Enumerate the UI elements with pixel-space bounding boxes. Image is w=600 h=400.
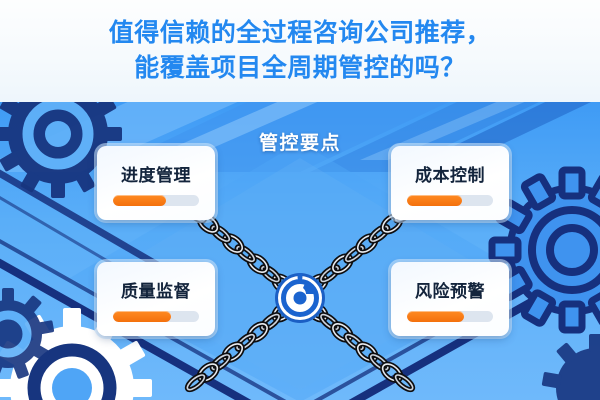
card-label: 风险预警 [415, 277, 485, 302]
progress-track [113, 195, 199, 206]
metric-card-risk[interactable]: 风险预警 [391, 262, 509, 336]
progress-fill [113, 195, 166, 206]
headline-line-1: 值得信赖的全过程咨询公司推荐， [109, 16, 492, 52]
center-hub-badge [275, 273, 325, 323]
progress-fill [407, 311, 464, 322]
metric-card-cost[interactable]: 成本控制 [391, 146, 509, 220]
progress-fill [407, 195, 462, 206]
header-banner: 值得信赖的全过程咨询公司推荐， 能覆盖项目全周期管控的吗？ [0, 0, 600, 102]
card-label: 进度管理 [121, 161, 191, 186]
progress-track [407, 311, 493, 322]
progress-track [113, 311, 199, 322]
progress-track [407, 195, 493, 206]
card-label: 质量监督 [121, 277, 191, 302]
section-heading: 管控要点 [0, 128, 600, 155]
progress-fill [113, 311, 171, 322]
metric-card-quality[interactable]: 质量监督 [97, 262, 215, 336]
headline-line-2: 能覆盖项目全周期管控的吗？ [134, 51, 466, 87]
infographic-poster: 值得信赖的全过程咨询公司推荐， 能覆盖项目全周期管控的吗？ [0, 0, 600, 400]
card-label: 成本控制 [415, 161, 485, 186]
metric-card-schedule[interactable]: 进度管理 [97, 146, 215, 220]
